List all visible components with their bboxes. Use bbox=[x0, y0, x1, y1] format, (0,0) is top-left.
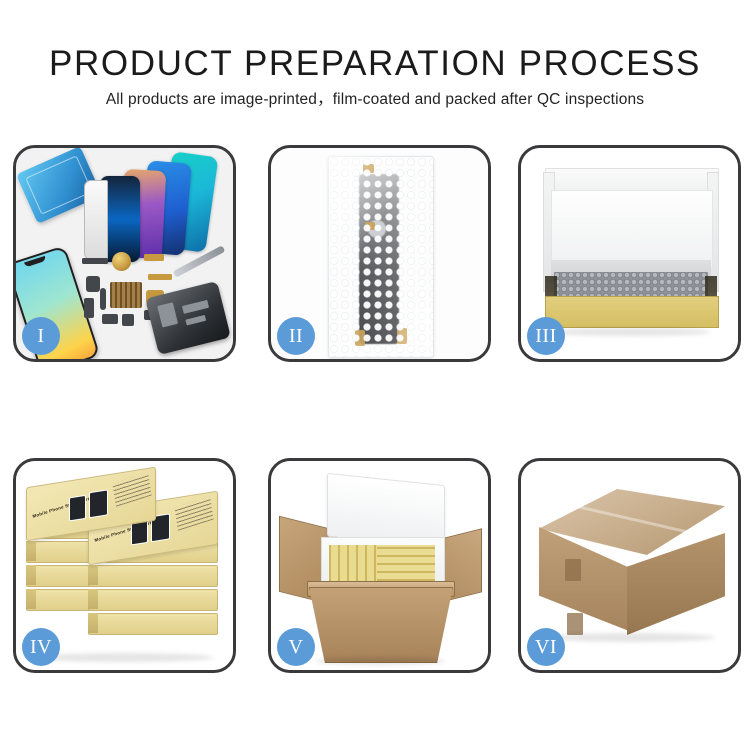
camera-lens-icon bbox=[112, 252, 131, 271]
grey-bubble-foam-icon bbox=[554, 272, 708, 298]
step-badge-4: IV bbox=[22, 628, 60, 666]
process-step-card-4[interactable]: Mobile Phone Spare Parts Mobile Phone Sp… bbox=[13, 458, 236, 673]
process-step-card-6[interactable]: VI bbox=[518, 458, 741, 673]
chip-array-icon bbox=[110, 282, 142, 308]
process-step-card-1[interactable]: I bbox=[13, 145, 236, 362]
process-step-card-3[interactable]: III bbox=[518, 145, 741, 362]
box-stack-icon: Mobile Phone Spare Parts Mobile Phone Sp… bbox=[26, 485, 226, 653]
step-badge-5: V bbox=[277, 628, 315, 666]
process-step-card-5[interactable]: V bbox=[268, 458, 491, 673]
process-step-card-2[interactable]: II bbox=[268, 145, 491, 362]
kraft-box-front-icon bbox=[545, 296, 719, 328]
bubble-wrap-bag-icon bbox=[328, 156, 434, 358]
step-badge-3: III bbox=[527, 317, 565, 355]
carton-body-icon bbox=[309, 587, 453, 663]
page-title: PRODUCT PREPARATION PROCESS bbox=[0, 44, 750, 84]
process-step-grid: I II bbox=[13, 145, 737, 673]
white-foam-icon bbox=[551, 190, 713, 268]
product-preparation-infographic: PRODUCT PREPARATION PROCESS All products… bbox=[0, 0, 750, 750]
page-subtitle: All products are image-printed，film-coat… bbox=[0, 90, 750, 110]
step-badge-6: VI bbox=[527, 628, 565, 666]
step-badge-1: I bbox=[22, 317, 60, 355]
step-badge-2: II bbox=[277, 317, 315, 355]
